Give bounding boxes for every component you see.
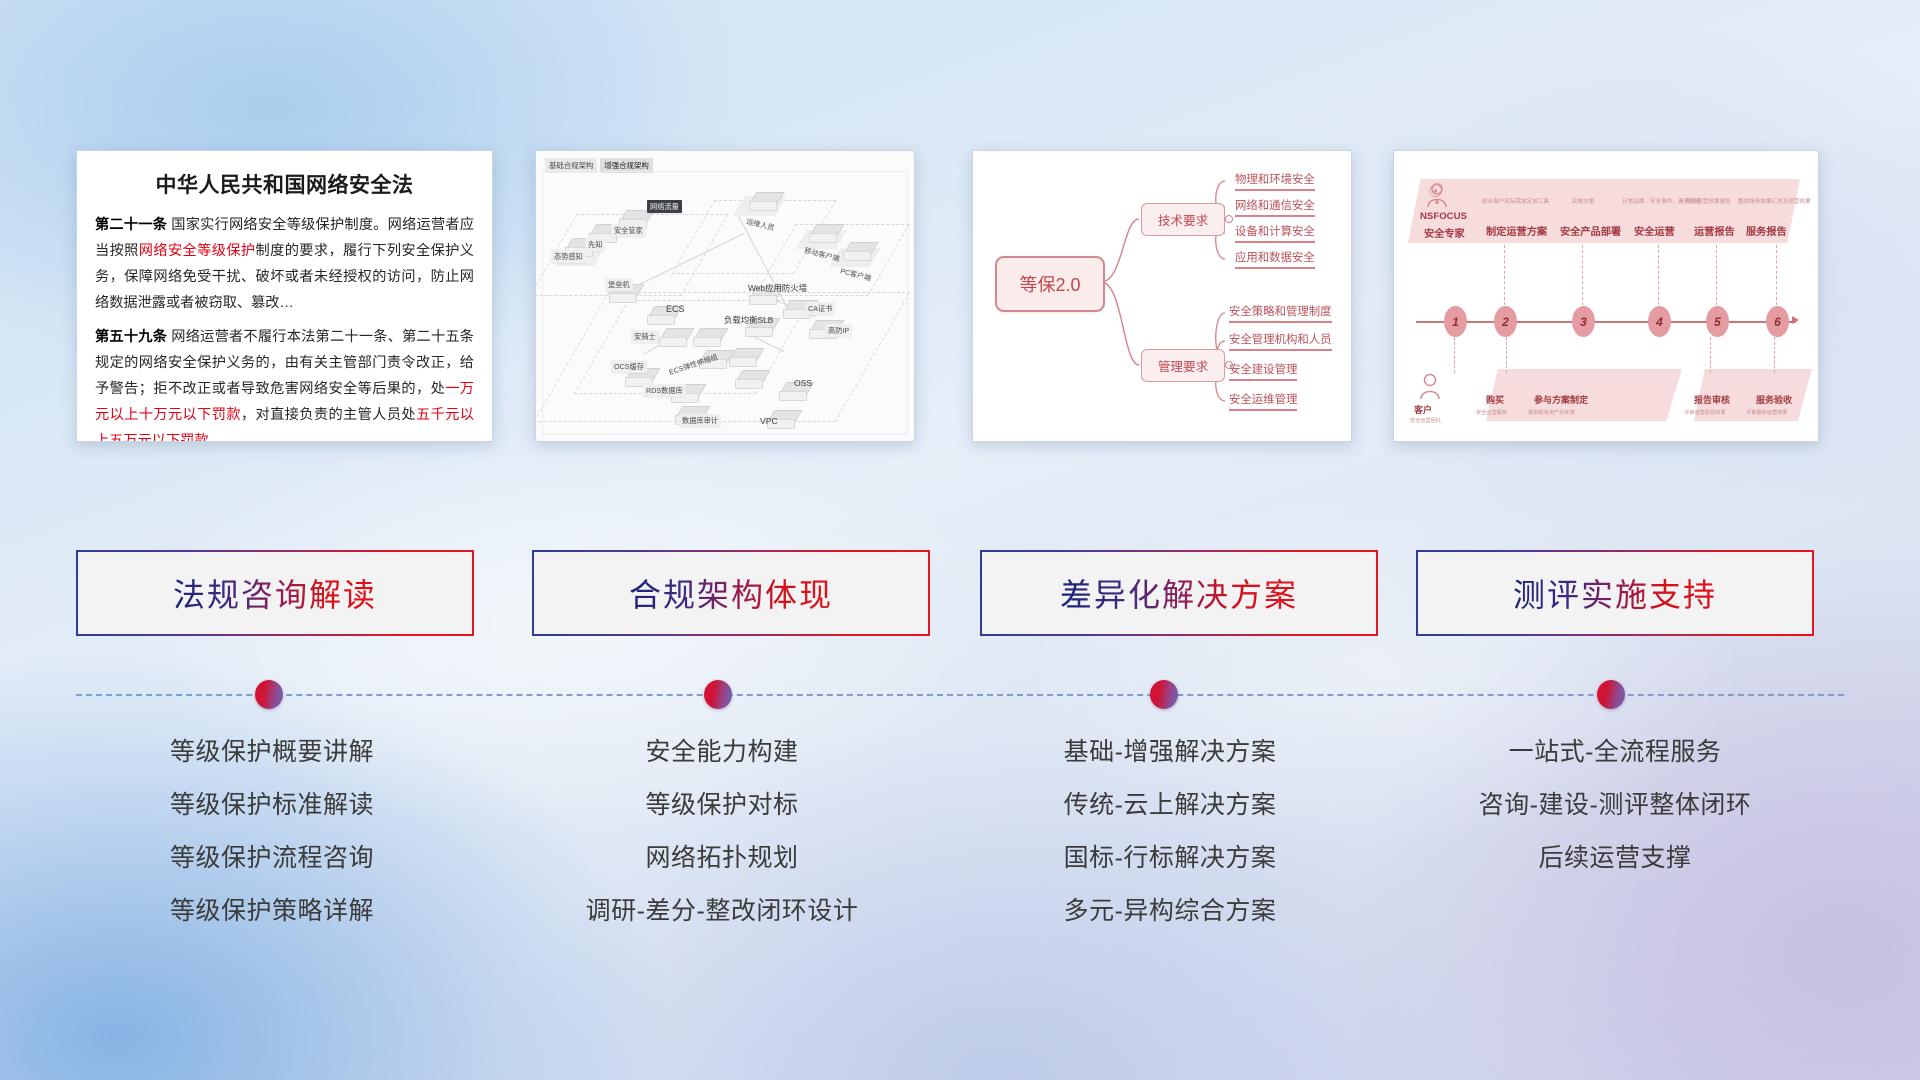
card-nsfocus-timeline[interactable]: ☉ NSFOCUS 安全专家 结合客户实际需求定制工具 制定运营方案 实施方案 … bbox=[1393, 150, 1819, 442]
feature-list-evaluation: 一站式-全流程服务 咨询-建设-测评整体闭环 后续运营支撑 bbox=[1405, 740, 1825, 899]
heading-box-differentiated-solution[interactable]: 差异化解决方案 bbox=[980, 550, 1378, 636]
timeline-node-4[interactable]: 4 bbox=[1648, 306, 1671, 337]
card-cybersecurity-law[interactable]: 中华人民共和国网络安全法 第二十一条 国家实行网络安全等级保护制度。网络运营者应… bbox=[76, 150, 493, 442]
timeline-node-5[interactable]: 5 bbox=[1706, 306, 1729, 337]
bottom-item-3-title: 报告审核 bbox=[1694, 393, 1730, 406]
step6-sub: 整体服务效果汇总及运营效果 bbox=[1738, 197, 1811, 205]
mindmap-leaf-physical: 物理和环境安全 bbox=[1235, 171, 1315, 191]
label-anqishi: 安骑士 bbox=[631, 330, 659, 343]
nsfocus-brand-line2: 安全专家 bbox=[1424, 225, 1465, 240]
label-database-audit: 数据库审计 bbox=[679, 414, 721, 427]
mindmap-leaf-device: 设备和计算安全 bbox=[1235, 223, 1315, 243]
list-item: 基础-增强解决方案 bbox=[960, 740, 1380, 765]
list-item: 调研-差分-整改闭环设计 bbox=[512, 899, 932, 924]
list-item: 后续运营支撑 bbox=[1405, 846, 1825, 871]
list-item: 网络拓扑规划 bbox=[512, 846, 932, 871]
feature-list-solution: 基础-增强解决方案 传统-云上解决方案 国标-行标解决方案 多元-异构综合方案 bbox=[960, 740, 1380, 952]
connector-step3 bbox=[1582, 245, 1584, 305]
label-anti-ddos-ip: 高防IP bbox=[825, 324, 852, 337]
heading-box-evaluation-support[interactable]: 测评实施支持 bbox=[1416, 550, 1814, 636]
connector-step2 bbox=[1504, 245, 1506, 305]
timeline-axis bbox=[1416, 321, 1796, 323]
connector-bottom4 bbox=[1774, 337, 1776, 373]
customer-person-icon bbox=[1416, 373, 1444, 401]
connector-step6 bbox=[1776, 245, 1778, 305]
mindmap-leaf-construction: 安全建设管理 bbox=[1229, 361, 1297, 381]
label-rds-database: RDS数据库 bbox=[643, 384, 686, 397]
connector-bottom3 bbox=[1710, 337, 1712, 373]
law-content: 中华人民共和国网络安全法 第二十一条 国家实行网络安全等级保护制度。网络运营者应… bbox=[77, 151, 492, 441]
cube-ops-staff bbox=[749, 192, 775, 209]
timeline-arrow-icon bbox=[1792, 316, 1799, 324]
bottom-item-1-title: 购买 bbox=[1486, 393, 1504, 406]
slide-stage: 中华人民共和国网络安全法 第二十一条 国家实行网络安全等级保护制度。网络运营者应… bbox=[0, 0, 1920, 1080]
label-slb: 负载均衡SLB bbox=[721, 312, 776, 327]
label-security-butler: 安全管家 bbox=[611, 224, 646, 237]
mindmap-leaf-application: 应用和数据安全 bbox=[1235, 249, 1315, 269]
mindmap-branch-management[interactable]: 管理要求 bbox=[1141, 349, 1225, 382]
list-item: 等级保护策略详解 bbox=[62, 899, 482, 924]
list-item: 一站式-全流程服务 bbox=[1405, 740, 1825, 765]
step3-title: 安全产品部署 bbox=[1560, 223, 1621, 238]
timeline-node-2[interactable]: 2 bbox=[1494, 306, 1517, 337]
mindmap-leaf-network: 网络和通信安全 bbox=[1235, 197, 1315, 217]
step5-sub: 阶段运营效果报告 bbox=[1686, 197, 1731, 205]
label-situational-awareness: 态势感知 bbox=[551, 250, 586, 263]
heading-label-3: 差异化解决方案 bbox=[1060, 570, 1298, 616]
connector-bottom1 bbox=[1454, 337, 1456, 373]
nsfocus-brand-line1: NSFOCUS bbox=[1420, 211, 1467, 222]
list-item: 等级保护对标 bbox=[512, 793, 932, 818]
thumbnail-card-row: 中华人民共和国网络安全法 第二十一条 国家实行网络安全等级保护制度。网络运营者应… bbox=[0, 0, 1920, 300]
step2-title: 制定运营方案 bbox=[1486, 223, 1547, 238]
bottom-item-4-title: 服务验收 bbox=[1756, 393, 1792, 406]
mindmap-leaf-policy: 安全策略和管理制度 bbox=[1229, 303, 1332, 323]
timeline-node-1[interactable]: 1 bbox=[1444, 306, 1467, 337]
cube-ecs-2 bbox=[693, 328, 719, 345]
step4-title: 安全运营 bbox=[1634, 223, 1675, 238]
cube-ecs-4 bbox=[729, 348, 755, 365]
article-59-post: 。 bbox=[209, 433, 223, 442]
bottom-item-2-sub: 提供现有资产及环境 bbox=[1528, 409, 1575, 416]
mindmap-leaf-org: 安全管理机构和人员 bbox=[1229, 331, 1332, 351]
label-bastion-host: 堡垒机 bbox=[605, 278, 633, 291]
bottom-item-1-sub: 安全运营服务 bbox=[1476, 409, 1507, 416]
timeline-node-6[interactable]: 6 bbox=[1766, 306, 1789, 337]
feature-list-regulation: 等级保护概要讲解 等级保护标准解读 等级保护流程咨询 等级保护策略详解 bbox=[62, 740, 482, 952]
timeline-dashed-line bbox=[76, 694, 1844, 696]
mindmap-branch-technical[interactable]: 技术要求 bbox=[1141, 203, 1225, 236]
connector-step5 bbox=[1716, 245, 1718, 305]
mindmap-canvas: 等保2.0 技术要求 物理和环境安全 网络和通信安全 设备和计算安全 应用和数据… bbox=[973, 151, 1351, 441]
heading-inner-1: 法规咨询解读 bbox=[78, 552, 472, 634]
card-cloud-architecture[interactable]: 基础合规架构 增强合规架构 bbox=[535, 150, 915, 442]
bottom-item-4-sub: 评审整体运营效果 bbox=[1746, 409, 1788, 416]
law-title: 中华人民共和国网络安全法 bbox=[95, 169, 474, 199]
mindmap-leaf-operation: 安全运维管理 bbox=[1229, 391, 1297, 411]
timeline-dot-4[interactable] bbox=[1597, 680, 1625, 709]
heading-inner-4: 测评实施支持 bbox=[1418, 552, 1812, 634]
expert-person-icon bbox=[1422, 183, 1452, 209]
label-oss: OSS bbox=[791, 376, 815, 389]
architecture-canvas: 网络流量 安全管家 先知 态势感知 堡垒机 ECS 安骑士 Web应用防火墙 负… bbox=[542, 171, 908, 435]
step5-title: 运营报告 bbox=[1694, 223, 1735, 238]
nsfocus-canvas: ☉ NSFOCUS 安全专家 结合客户实际需求定制工具 制定运营方案 实施方案 … bbox=[1394, 151, 1818, 441]
mindmap-dot-technical bbox=[1225, 215, 1233, 223]
cube-anqishi bbox=[659, 328, 685, 345]
article-21-highlight: 网络安全等级保护 bbox=[139, 243, 256, 259]
list-item: 传统-云上解决方案 bbox=[960, 793, 1380, 818]
bottom-item-3-sub: 评审运营阶段效果 bbox=[1684, 409, 1726, 416]
label-vpc: VPC bbox=[757, 414, 781, 427]
label-ocs-cache: OCS缓存 bbox=[611, 360, 647, 373]
label-ca-certificate: CA证书 bbox=[805, 302, 835, 315]
label-ecs: ECS bbox=[663, 302, 688, 315]
heading-box-regulation-consulting[interactable]: 法规咨询解读 bbox=[76, 550, 474, 636]
list-item: 等级保护流程咨询 bbox=[62, 846, 482, 871]
heading-box-compliance-architecture[interactable]: 合规架构体现 bbox=[532, 550, 930, 636]
bottom-item-2-title: 参与方案制定 bbox=[1534, 393, 1588, 406]
heading-label-2: 合规架构体现 bbox=[629, 570, 833, 616]
cube-mobile-client bbox=[809, 224, 835, 241]
heading-label-4: 测评实施支持 bbox=[1513, 570, 1717, 616]
article-59-number: 第五十九条 bbox=[95, 329, 167, 345]
list-item: 等级保护标准解读 bbox=[62, 793, 482, 818]
card-mindmap-dengbao[interactable]: 等保2.0 技术要求 物理和环境安全 网络和通信安全 设备和计算安全 应用和数据… bbox=[972, 150, 1352, 442]
heading-label-1: 法规咨询解读 bbox=[173, 570, 377, 616]
label-waf: Web应用防火墙 bbox=[745, 280, 810, 295]
badge-network-traffic: 网络流量 bbox=[647, 200, 682, 213]
timeline-dot-2[interactable] bbox=[704, 680, 732, 709]
heading-inner-2: 合规架构体现 bbox=[534, 552, 928, 634]
heading-inner-3: 差异化解决方案 bbox=[982, 552, 1376, 634]
article-21-number: 第二十一条 bbox=[95, 217, 167, 233]
cube-pc-client bbox=[843, 242, 869, 259]
feature-list-architecture: 安全能力构建 等级保护对标 网络拓扑规划 调研-差分-整改闭环设计 bbox=[512, 740, 932, 952]
article-59-mid: ，对直接负责的主管人员处 bbox=[241, 407, 416, 423]
step2-sub: 结合客户实际需求定制工具 bbox=[1482, 197, 1549, 205]
step6-title: 服务报告 bbox=[1746, 223, 1787, 238]
customer-label: 客户 bbox=[1414, 403, 1432, 416]
list-item: 多元-异构综合方案 bbox=[960, 899, 1380, 924]
list-item: 安全能力构建 bbox=[512, 740, 932, 765]
timeline-dot-3[interactable] bbox=[1150, 680, 1178, 709]
architecture-diagram: 基础合规架构 增强合规架构 bbox=[536, 151, 914, 441]
connector-bottom2 bbox=[1506, 337, 1508, 373]
timeline-node-3[interactable]: 3 bbox=[1572, 306, 1595, 337]
step3-sub: 实施方案 bbox=[1572, 197, 1594, 205]
mindmap-root-node[interactable]: 等保2.0 bbox=[995, 256, 1105, 312]
timeline-dot-1[interactable] bbox=[255, 680, 283, 709]
list-item: 等级保护概要讲解 bbox=[62, 740, 482, 765]
list-item: 咨询-建设-测评整体闭环 bbox=[1405, 793, 1825, 818]
customer-sub-label: 安全运营团队 bbox=[1410, 417, 1441, 424]
connector-step4 bbox=[1658, 245, 1660, 305]
cube-ecs-5 bbox=[735, 370, 761, 387]
law-article-21: 第二十一条 国家实行网络安全等级保护制度。网络运营者应当按照网络安全等级保护制度… bbox=[95, 213, 474, 316]
list-item: 国标-行标解决方案 bbox=[960, 846, 1380, 871]
law-article-59: 第五十九条 网络运营者不履行本法第二十一条、第二十五条规定的网络安全保护义务的，… bbox=[95, 325, 474, 442]
label-xianzhi: 先知 bbox=[585, 238, 605, 251]
